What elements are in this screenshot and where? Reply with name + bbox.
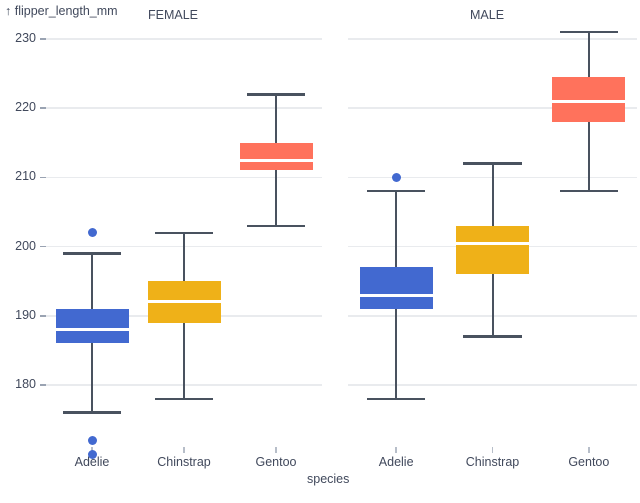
gridline-230 — [348, 38, 637, 40]
boxplot-chart: ↑ flipper_length_mm FEMALE MALE species … — [0, 0, 640, 503]
x-axis-title: species — [307, 472, 349, 486]
whisker-cap-upper — [247, 93, 305, 96]
whisker-cap-lower — [463, 335, 521, 338]
outlier-point — [88, 228, 97, 237]
gridline-180 — [348, 384, 637, 386]
x-tick-label-gentoo: Gentoo — [529, 455, 640, 469]
box-female-adelie — [56, 309, 129, 344]
whisker-cap-upper — [560, 31, 618, 34]
median-line — [56, 328, 129, 331]
whisker-cap-lower — [367, 398, 425, 401]
whisker-cap-lower — [247, 225, 305, 228]
whisker-cap-upper — [155, 232, 213, 235]
gridline-220 — [46, 107, 322, 109]
y-axis-title: ↑ flipper_length_mm — [5, 4, 118, 18]
gridline-210 — [46, 177, 322, 179]
whisker-cap-upper — [463, 162, 521, 165]
median-line — [240, 159, 313, 162]
whisker-cap-upper — [367, 190, 425, 193]
x-tick-mark — [395, 447, 397, 453]
facet-title-male: MALE — [470, 8, 504, 22]
median-line — [360, 294, 433, 297]
x-tick-label-gentoo: Gentoo — [216, 455, 336, 469]
y-tick-label: 230 — [2, 31, 36, 45]
x-tick-mark — [183, 447, 185, 453]
y-tick-label: 220 — [2, 100, 36, 114]
whisker-cap-lower — [63, 411, 121, 414]
y-tick-label: 190 — [2, 308, 36, 322]
y-tick-label: 210 — [2, 169, 36, 183]
box-male-adelie — [360, 267, 433, 309]
whisker-cap-lower — [560, 190, 618, 193]
x-tick-mark — [492, 447, 494, 453]
box-male-chinstrap — [456, 226, 529, 274]
x-tick-mark — [275, 447, 277, 453]
y-tick-label: 200 — [2, 239, 36, 253]
outlier-point — [88, 450, 97, 459]
x-tick-mark — [588, 447, 590, 453]
median-line — [456, 242, 529, 245]
median-line — [552, 100, 625, 103]
facet-title-female: FEMALE — [148, 8, 198, 22]
gridline-230 — [46, 38, 322, 40]
outlier-point — [392, 173, 401, 182]
whisker-cap-lower — [155, 398, 213, 401]
y-tick-label: 180 — [2, 377, 36, 391]
whisker-cap-upper — [63, 252, 121, 255]
median-line — [148, 300, 221, 303]
box-female-gentoo — [240, 143, 313, 171]
outlier-point — [88, 436, 97, 445]
